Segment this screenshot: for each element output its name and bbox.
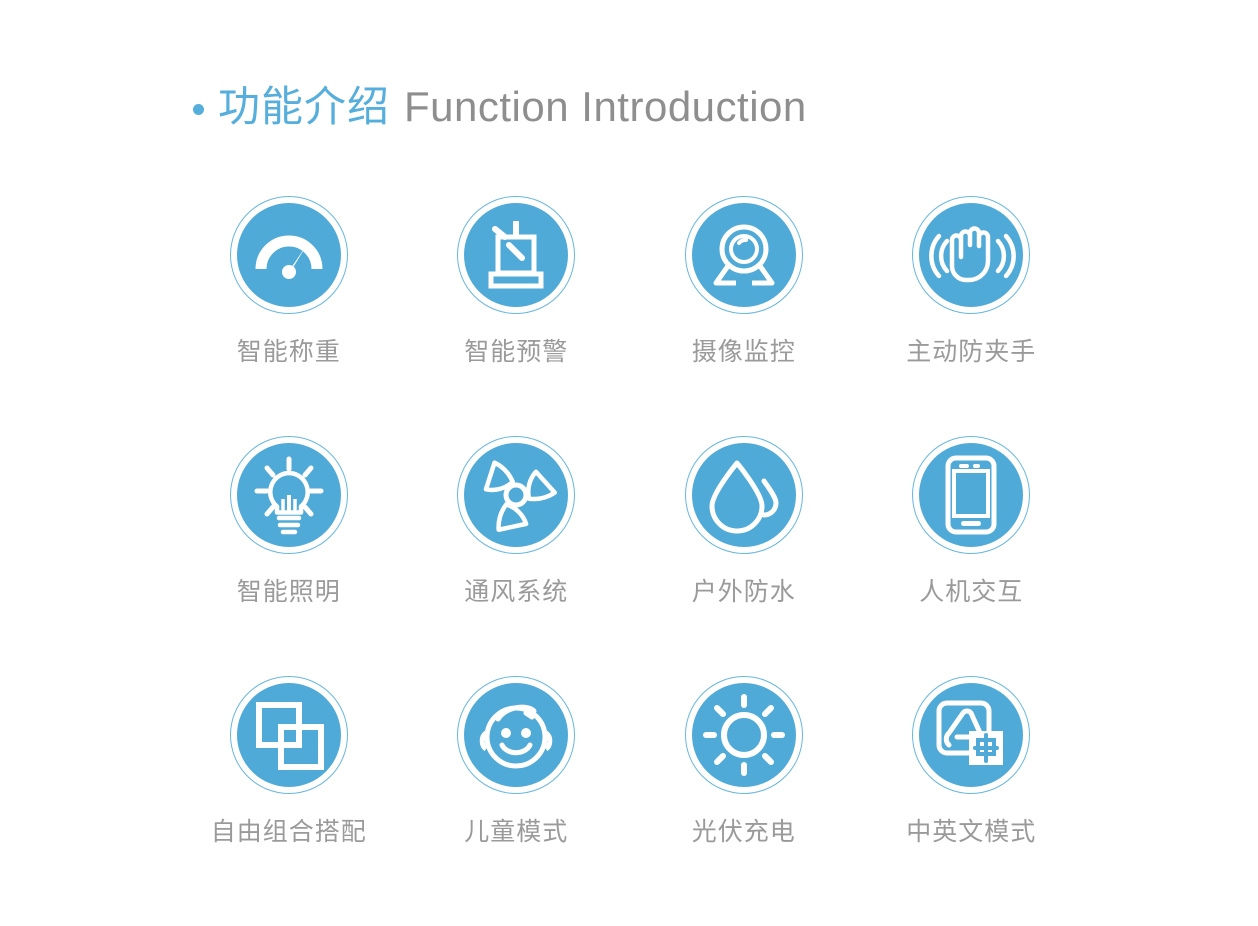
child-face-glyph [464,683,568,787]
feature-label: 自由组合搭配 [211,820,367,845]
water-drop-icon[interactable] [685,436,803,554]
feature-label: 儿童模式 [464,820,568,845]
webcam-glyph [692,203,796,307]
feature-item-lighting[interactable]: 智能照明 [175,436,403,676]
gauge-icon[interactable] [230,196,348,314]
feature-item-webcam[interactable]: 摄像监控 [630,196,858,436]
feature-label: 通风系统 [464,580,568,605]
hand-sensor-glyph [919,203,1023,307]
feature-item-hmi[interactable]: 人机交互 [858,436,1086,676]
alarm-siren-glyph [464,203,568,307]
feature-label: 人机交互 [919,580,1023,605]
feature-item-ventilation[interactable]: 通风系统 [403,436,631,676]
smartphone-icon[interactable] [912,436,1030,554]
bullet-dot-icon [193,104,204,115]
feature-label: 户外防水 [692,580,796,605]
feature-item-alarm[interactable]: 智能预警 [403,196,631,436]
page-title-cn: 功能介绍 [218,86,390,128]
page-title-en: Function Introduction [404,86,807,128]
feature-item-waterproof[interactable]: 户外防水 [630,436,858,676]
translate-glyph [919,683,1023,787]
feature-label: 智能照明 [237,580,341,605]
feature-label: 智能称重 [237,340,341,365]
webcam-icon[interactable] [685,196,803,314]
smartphone-glyph [919,443,1023,547]
gauge-glyph [237,203,341,307]
fan-ventilation-glyph [464,443,568,547]
feature-item-gauge[interactable]: 智能称重 [175,196,403,436]
hand-sensor-icon[interactable] [912,196,1030,314]
feature-label: 光伏充电 [692,820,796,845]
feature-label: 主动防夹手 [906,340,1036,365]
overlapping-squares-icon[interactable] [230,676,348,794]
overlapping-squares-glyph [237,683,341,787]
fan-ventilation-icon[interactable] [457,436,575,554]
lightbulb-glyph [237,443,341,547]
alarm-siren-icon[interactable] [457,196,575,314]
translate-icon[interactable] [912,676,1030,794]
page-title: 功能介绍 Function Introduction [193,86,807,128]
feature-grid: 智能称重 智能预警 [175,196,1085,916]
feature-item-child-mode[interactable]: 儿童模式 [403,676,631,916]
feature-label: 摄像监控 [692,340,796,365]
feature-item-language[interactable]: 中英文模式 [858,676,1086,916]
water-drop-glyph [692,443,796,547]
feature-label: 中英文模式 [906,820,1036,845]
lightbulb-icon[interactable] [230,436,348,554]
feature-label: 智能预警 [464,340,568,365]
feature-item-hand-sensor[interactable]: 主动防夹手 [858,196,1086,436]
sun-glyph [692,683,796,787]
feature-item-combination[interactable]: 自由组合搭配 [175,676,403,916]
child-face-icon[interactable] [457,676,575,794]
sun-icon[interactable] [685,676,803,794]
feature-item-solar[interactable]: 光伏充电 [630,676,858,916]
